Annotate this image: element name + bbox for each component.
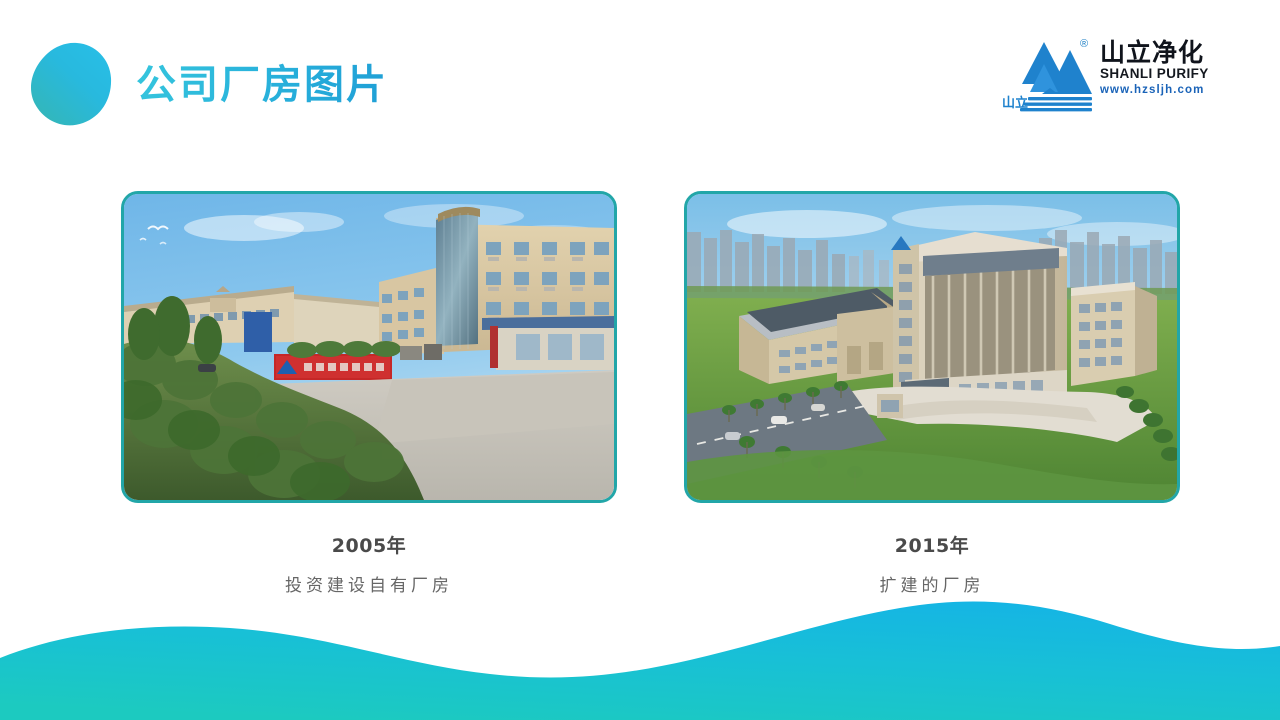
logo-text-block: 山立净化 SHANLI PURIFY www.hzsljh.com bbox=[1100, 40, 1220, 98]
gallery-card-2005[interactable]: 2005年 投资建设自有厂房 bbox=[121, 191, 617, 503]
slide-root: 公司厂房图片 山立 ® 山立净化 SHANLI PUR bbox=[0, 0, 1280, 720]
logo-company-name-en: SHANLI PURIFY bbox=[1100, 66, 1220, 83]
caption-year: 2005年 bbox=[121, 531, 617, 558]
company-logo: 山立 ® 山立净化 SHANLI PURIFY www.hzsljh.com bbox=[1000, 34, 1218, 120]
svg-text:山立: 山立 bbox=[1002, 95, 1028, 111]
logo-company-name-cn: 山立净化 bbox=[1100, 40, 1220, 66]
decorative-blob-icon bbox=[30, 42, 112, 126]
gallery-card-2015[interactable]: 2015年 扩建的厂房 bbox=[684, 191, 1180, 503]
footer-wave-decoration bbox=[0, 580, 1280, 720]
page-title: 公司厂房图片 bbox=[136, 62, 388, 108]
photo-frame bbox=[684, 191, 1180, 503]
factory-photo-2005 bbox=[124, 194, 614, 500]
photo-frame bbox=[121, 191, 617, 503]
logo-website-url: www.hzsljh.com bbox=[1100, 83, 1220, 98]
registered-trademark-icon: ® bbox=[1080, 38, 1088, 50]
caption-year: 2015年 bbox=[684, 531, 1180, 558]
factory-photo-2015 bbox=[687, 194, 1177, 500]
